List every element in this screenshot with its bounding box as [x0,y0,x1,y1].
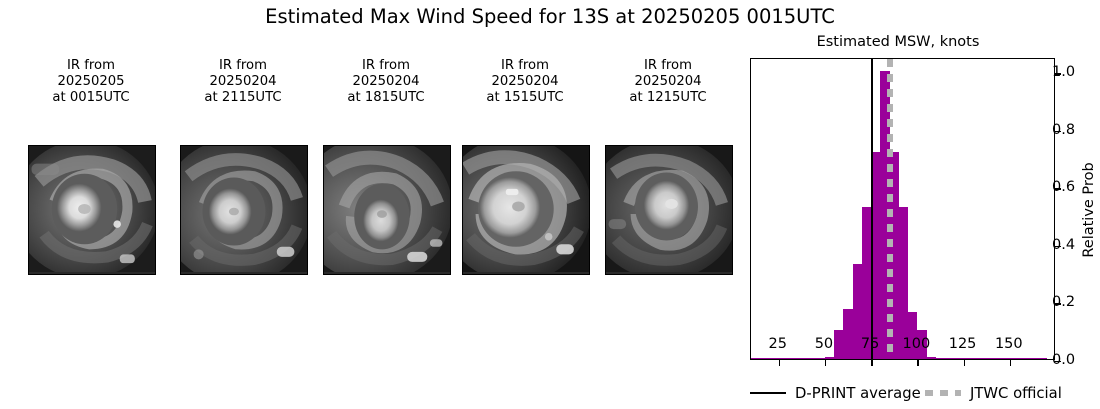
histogram-bar [1001,358,1010,359]
histogram-bar [751,358,760,359]
satellite-image-3[interactable] [462,145,590,275]
x-axis-tick [779,359,780,366]
satellite-image-2[interactable] [323,145,451,275]
x-axis-tick [964,359,965,366]
satellite-panel-strip: IR from 20250205 at 0015UTC [0,58,740,288]
legend-label-dprint: D-PRINT average [795,385,921,402]
satellite-image-4[interactable] [605,145,733,275]
x-axis-tick-label: 125 [949,336,977,352]
y-axis-tick-label: 0.2 [1052,294,1075,310]
satellite-panel[interactable]: IR from 20250204 at 2115UTC [176,58,310,106]
satellite-panel[interactable]: IR from 20250204 at 1815UTC [319,58,453,106]
legend-label-jtwc: JTWC official [970,385,1062,402]
dprint-average-line [871,59,873,359]
x-axis-tick-label: 50 [815,336,833,352]
y-axis-tick-label: 0.6 [1052,179,1075,195]
x-axis-tick [825,359,826,366]
satellite-panel[interactable]: IR from 20250204 at 1215UTC [601,58,735,106]
histogram-bar [1028,358,1037,359]
ir-satellite-imagery [29,146,155,272]
satellite-panel-label: IR from 20250204 at 1815UTC [319,58,453,106]
page-title: Estimated Max Wind Speed for 13S at 2025… [0,5,1100,28]
legend-item-jtwc[interactable]: JTWC official [925,380,1062,406]
satellite-panel-label: IR from 20250205 at 0015UTC [24,58,158,106]
histogram-bar [927,357,936,359]
satellite-panel-label: IR from 20250204 at 1215UTC [601,58,735,106]
dashed-line-swatch-icon [925,390,961,396]
histogram-bar [760,358,769,359]
legend-item-dprint[interactable]: D-PRINT average [750,380,921,406]
solid-line-swatch-icon [750,392,786,394]
ir-satellite-imagery [463,146,589,272]
y-axis-label: Relative Prob [1081,162,1097,257]
histogram-bar [973,358,982,359]
x-axis-tick-label: 75 [861,336,879,352]
x-axis-tick [1010,359,1011,366]
histogram-bar [816,358,825,359]
satellite-panel[interactable]: IR from 20250204 at 1515UTC [458,58,592,106]
histogram-bar [806,358,815,359]
satellite-panel-label: IR from 20250204 at 1515UTC [458,58,592,106]
x-axis-tick [917,359,918,366]
chart-title: Estimated MSW, knots [740,34,1056,50]
chart-plot-area [751,59,1054,359]
ir-satellite-imagery [181,146,307,272]
histogram-bar [954,358,963,359]
x-axis-tick [871,359,872,366]
x-axis-tick-label: 100 [903,336,931,352]
y-axis-tick-label: 0.8 [1052,122,1075,138]
satellite-panel-label: IR from 20250204 at 2115UTC [176,58,310,106]
histogram-bar [834,330,843,359]
histogram-bar [788,358,797,359]
histogram-bar [982,358,991,359]
y-axis-tick-label: 1.0 [1052,64,1075,80]
y-axis-tick-label: 0.4 [1052,237,1075,253]
chart-legend: D-PRINT average JTWC official [750,380,1100,406]
satellite-image-1[interactable] [180,145,308,275]
jtwc-official-line [887,59,893,359]
msw-histogram-chart: Estimated MSW, knots 0.00.20.40.60.81.0 … [740,30,1100,409]
histogram-bar [797,358,806,359]
histogram-bar [945,358,954,359]
histogram-bar [936,358,945,359]
satellite-panel[interactable]: IR from 20250205 at 0015UTC [24,58,158,106]
x-axis-tick-label: 25 [768,336,786,352]
ir-satellite-imagery [324,146,450,272]
chart-axes [750,58,1055,360]
satellite-image-0[interactable] [28,145,156,275]
histogram-bar [843,309,852,359]
histogram-bar [991,358,1000,359]
histogram-bar [1019,358,1028,359]
x-axis-tick-label: 150 [995,336,1023,352]
histogram-bar [769,358,778,359]
histogram-bar [1038,358,1047,359]
ir-satellite-imagery [606,146,732,272]
y-axis-tick-label: 0.0 [1052,352,1075,368]
